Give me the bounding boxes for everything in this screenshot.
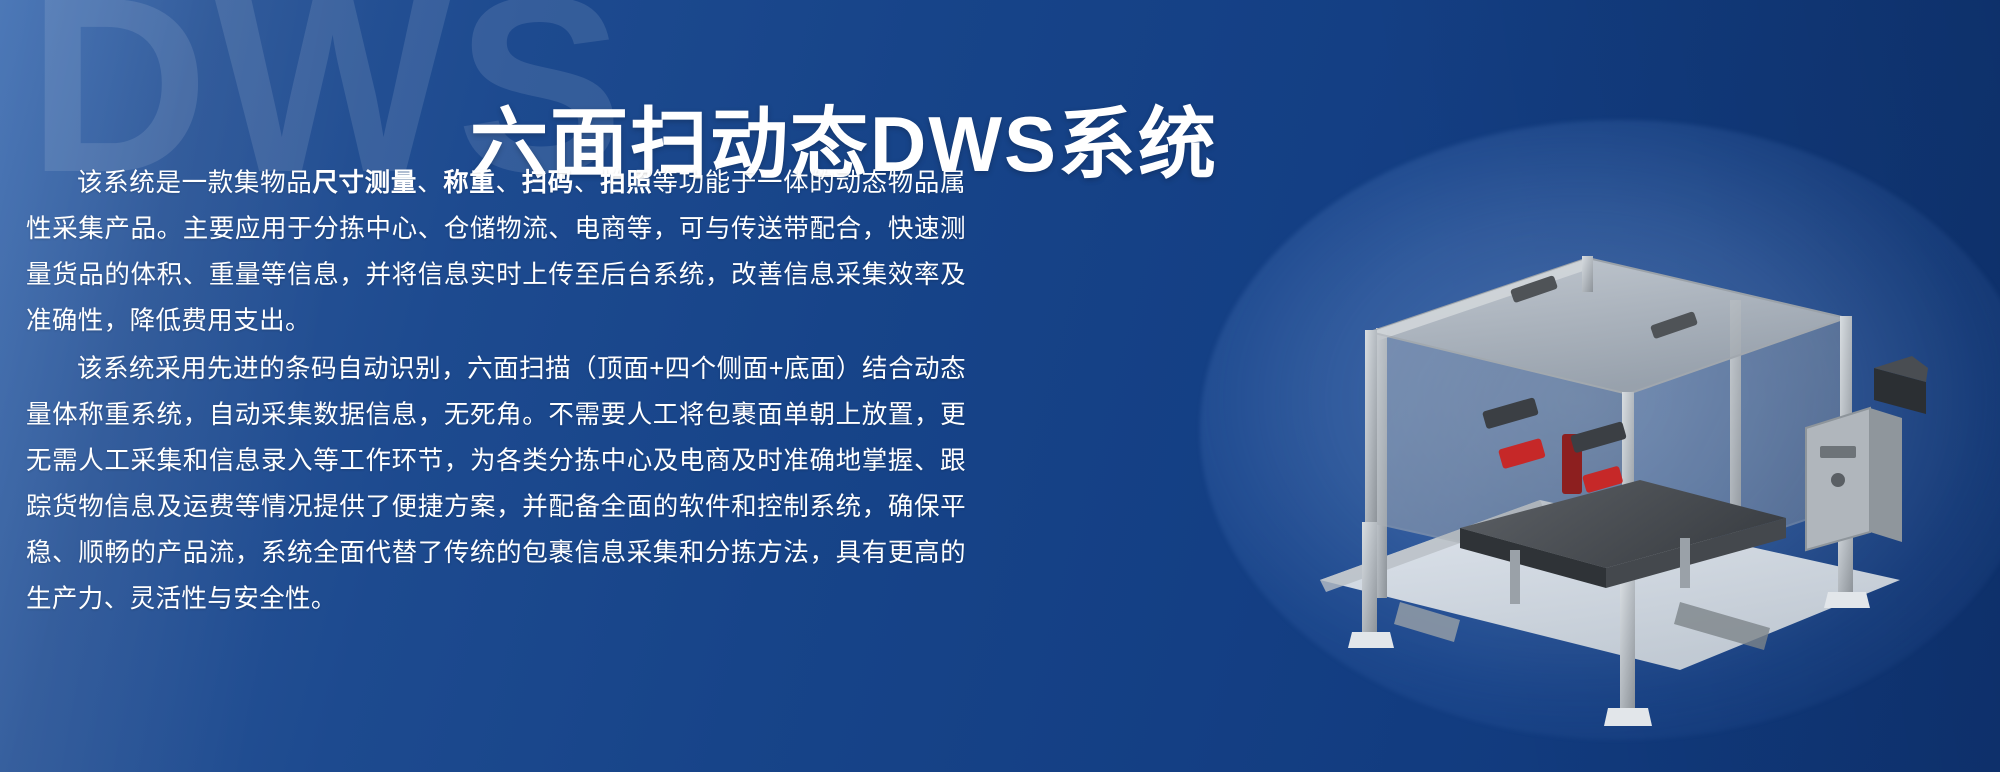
dws-product-banner: DWS 六面扫动态DWS系统 [0,0,2000,772]
foot-pad-right [1824,592,1870,608]
desc-p1-seg3: 、 [495,169,521,197]
belt-support-left [1510,550,1520,604]
belt-support-right [1680,538,1690,588]
description-text-block: 该系统是一款集物品尺寸测量、称重、扫码、拍照等功能于一体的动态物品属性采集产品。… [26,160,966,622]
foot-pad-center [1604,708,1652,726]
desc-p1-bold4: 拍照 [600,169,652,197]
desc-p1-bold1: 尺寸测量 [312,169,417,197]
desc-p1-bold2: 称重 [443,169,495,197]
desc-p1-seg2: 、 [417,169,443,197]
frame-leg-center-front [1620,580,1635,708]
control-cabinet [1806,408,1902,550]
cabinet-vent [1820,446,1856,458]
frame-column-back [1582,256,1593,292]
frame-column-front-left [1365,330,1377,526]
desc-p1-seg4: 、 [574,169,600,197]
foot-pad-left [1348,632,1394,648]
desc-p1-bold3: 扫码 [522,169,574,197]
frame-leg-front-left [1362,522,1377,632]
product-render-image [1210,150,1970,750]
cabinet-knob [1831,473,1845,487]
desc-p1-seg1: 该系统是一款集物品 [77,169,312,197]
description-paragraph-2: 该系统采用先进的条码自动识别，六面扫描（顶面+四个侧面+底面）结合动态量体称重系… [26,346,966,622]
description-paragraph-1: 该系统是一款集物品尺寸测量、称重、扫码、拍照等功能于一体的动态物品属性采集产品。… [26,160,966,344]
